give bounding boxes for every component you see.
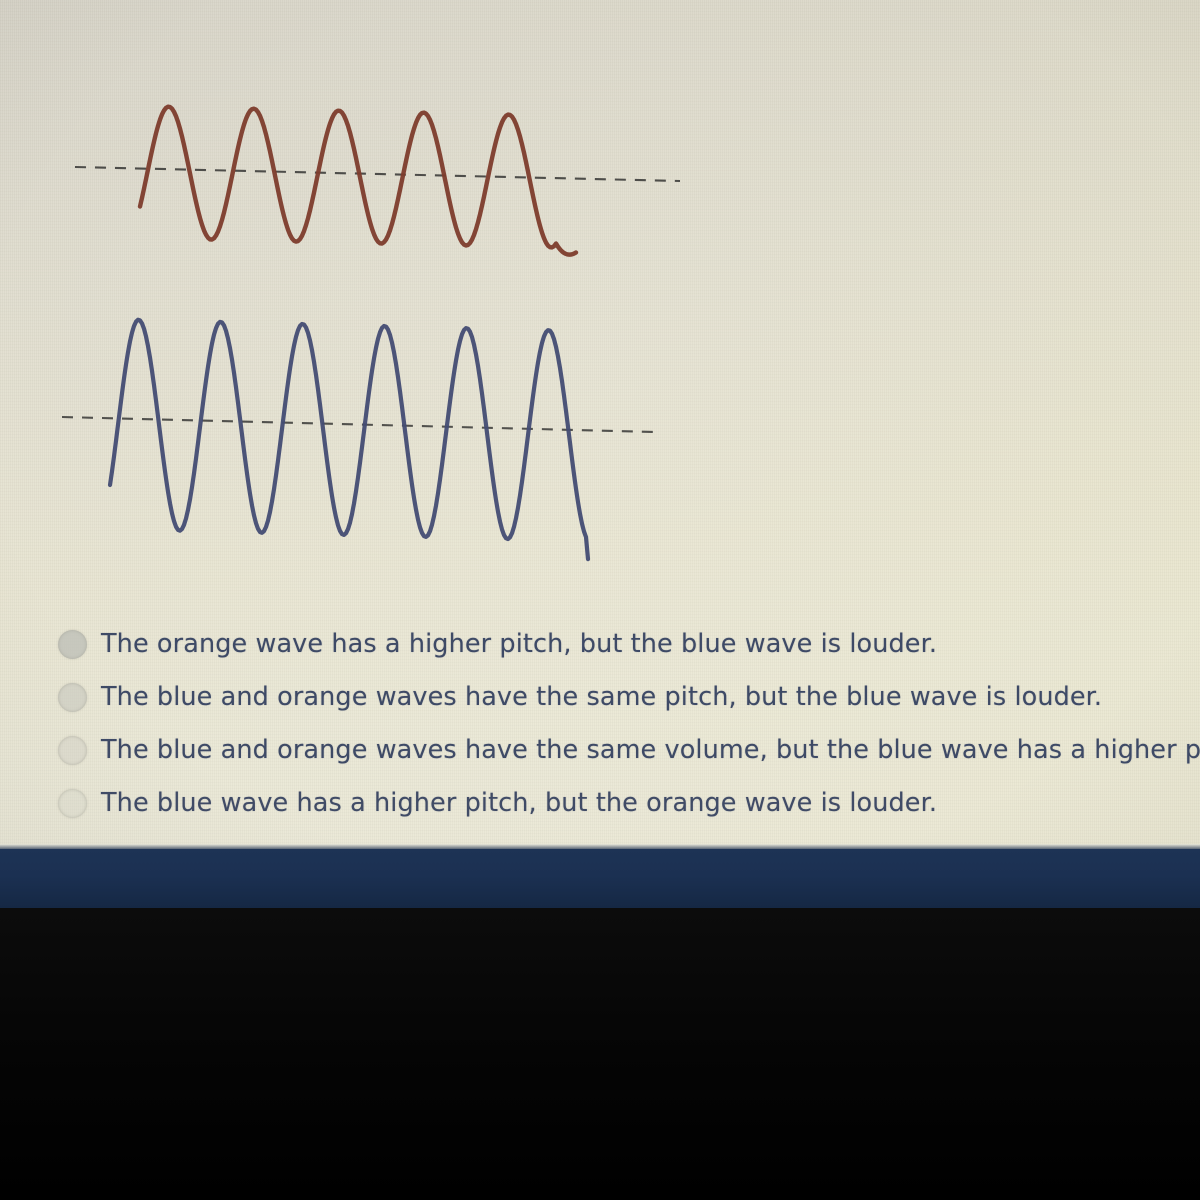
device-black-area — [0, 908, 1200, 1200]
answer-option-d[interactable]: The blue wave has a higher pitch, but th… — [0, 777, 1200, 830]
answer-option-c-label: The blue and orange waves have the same … — [101, 736, 1200, 764]
answer-options-list: The orange wave has a higher pitch, but … — [0, 618, 1200, 830]
radio-button-icon-d[interactable] — [58, 789, 87, 818]
blue-wave-curve — [110, 320, 588, 559]
device-navy-band — [0, 849, 1200, 908]
radio-button-icon-b[interactable] — [58, 683, 87, 712]
answer-option-b-label: The blue and orange waves have the same … — [101, 683, 1102, 711]
answer-option-a[interactable]: The orange wave has a higher pitch, but … — [0, 618, 1200, 671]
orange-wave-baseline — [75, 167, 680, 181]
answer-option-d-label: The blue wave has a higher pitch, but th… — [101, 789, 937, 817]
answer-option-a-label: The orange wave has a higher pitch, but … — [101, 630, 937, 658]
screenshot-root: The orange wave has a higher pitch, but … — [0, 0, 1200, 1200]
radio-button-icon-c[interactable] — [58, 736, 87, 765]
answer-option-b[interactable]: The blue and orange waves have the same … — [0, 671, 1200, 724]
wave-figure-svg — [0, 0, 1200, 600]
radio-button-icon-a[interactable] — [58, 630, 87, 659]
answer-option-c[interactable]: The blue and orange waves have the same … — [0, 724, 1200, 777]
orange-wave-curve — [140, 107, 576, 255]
wave-figure — [0, 0, 1200, 600]
